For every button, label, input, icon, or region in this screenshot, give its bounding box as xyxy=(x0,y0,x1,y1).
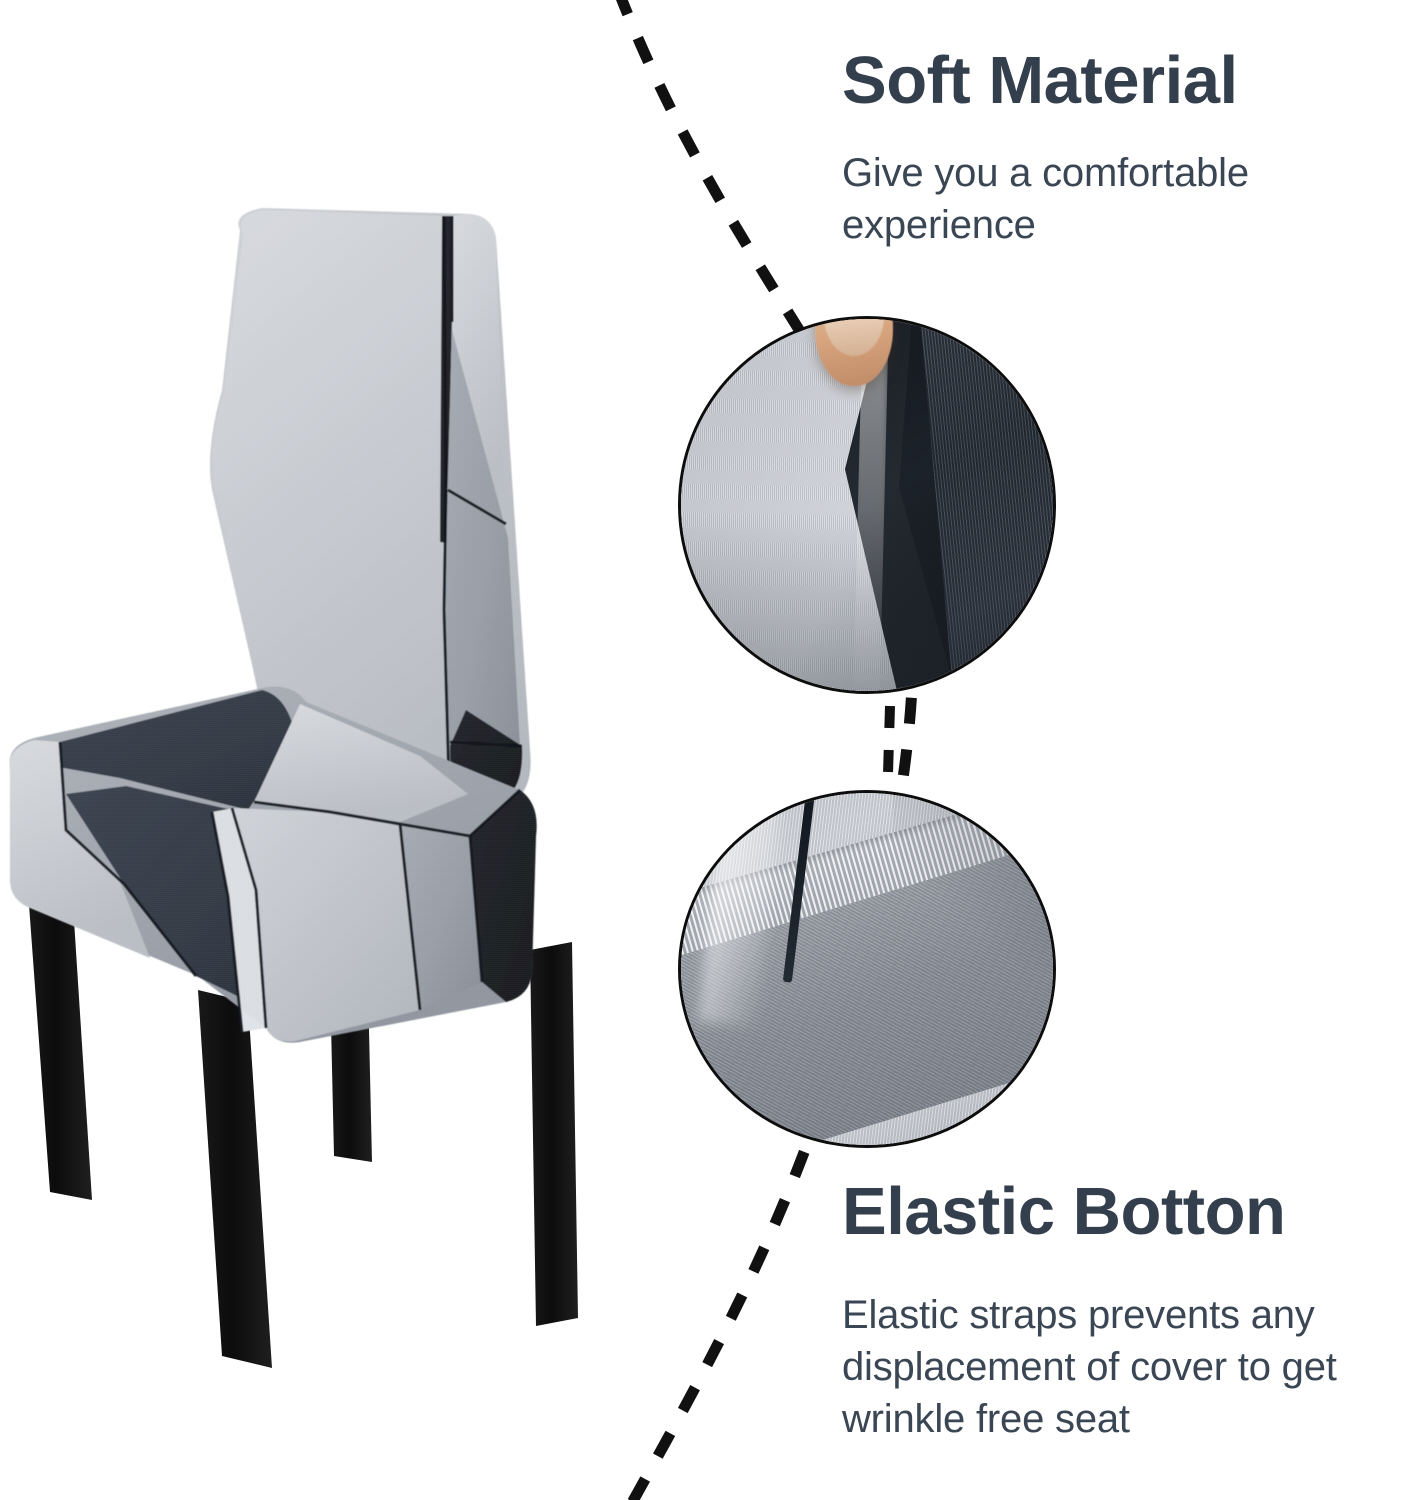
elastic-hem-layer xyxy=(681,793,1053,1145)
feature-block-soft-material: Soft Material Give you a comfortable exp… xyxy=(842,47,1402,251)
feature-block-elastic-bottom: Elastic Botton Elastic straps prevents a… xyxy=(842,1178,1417,1445)
fabric-pinch-photo xyxy=(678,316,1056,694)
feature-description-soft-material: Give you a comfortable experience xyxy=(842,147,1402,251)
feature-title-elastic-bottom: Elastic Botton xyxy=(842,1178,1417,1245)
feature-title-soft-material: Soft Material xyxy=(842,47,1402,114)
elastic-hem-photo xyxy=(678,790,1056,1148)
feature-description-elastic-bottom: Elastic straps prevents any displacement… xyxy=(842,1289,1417,1445)
product-chair-image xyxy=(0,190,660,1370)
infographic-canvas: Soft Material Give you a comfortable exp… xyxy=(0,0,1418,1500)
